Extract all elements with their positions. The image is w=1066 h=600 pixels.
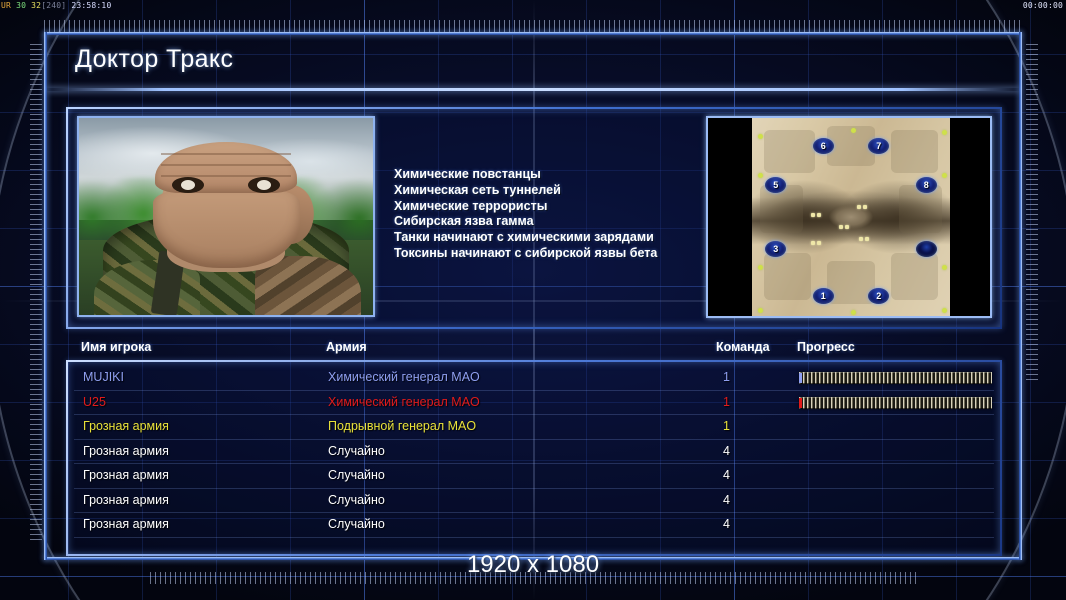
page-title: Доктор Тракс [75,45,233,74]
map-supply-dock [865,237,869,241]
map-start-position-3[interactable]: 3 [765,241,786,257]
player-army: Случайно [328,517,385,531]
map-supply-dock [817,241,821,245]
player-table-header: Имя игрока Армия Команда Прогресс [66,340,1002,360]
player-army: Случайно [328,493,385,507]
player-army: Химический генерал MAO [328,370,480,384]
map-supply-dock [857,205,861,209]
map-supply-dock [817,213,821,217]
table-row[interactable]: U25Химический генерал MAO1 [68,391,1000,416]
map-supply-dock [845,225,849,229]
player-army: Случайно [328,444,385,458]
map-supply-dock [811,213,815,217]
table-row[interactable]: MUJIKIХимический генерал MAO1 [68,366,1000,391]
column-header-team: Команда [716,340,770,354]
column-header-player: Имя игрока [81,340,151,354]
player-name: Грозная армия [83,419,169,433]
player-team: 1 [723,370,730,384]
map-terrain-patch [760,185,804,233]
faction-portrait [77,116,375,317]
table-row[interactable]: Грозная армияСлучайно4 [68,489,1000,514]
resolution-label: 1920 x 1080 [0,551,1066,579]
portrait-eyes [164,177,287,193]
faction-description-line: Химические повстанцы [394,167,657,183]
title-bar: Доктор Тракс [47,35,1019,91]
player-army: Химический генерал MAO [328,395,480,409]
frame-edge-left [44,32,47,560]
table-row[interactable]: Грозная армияСлучайно4 [68,464,1000,489]
map-tech-building [942,130,947,135]
map-tech-building [851,128,856,133]
map-start-position-1[interactable]: 1 [813,288,834,304]
map-preview[interactable]: 1235678 [706,116,992,318]
table-row[interactable]: Грозная армияПодрывной генерал MAO1 [68,415,1000,440]
frame-edge-right [1019,32,1022,560]
player-team: 1 [723,419,730,433]
faction-description-list: Химические повстанцыХимическая сеть тунн… [394,167,657,262]
debug-right-timer: 00:00:00 [1023,0,1063,11]
map-tech-building [942,308,947,313]
player-team: 4 [723,517,730,531]
debug-clock: 23:58:10 [71,1,111,10]
player-table: MUJIKIХимический генерал MAO1U25Химическ… [66,360,1002,556]
faction-description-line: Химические террористы [394,199,657,215]
map-tech-building [758,265,763,270]
map-supply-dock [863,205,867,209]
map-start-position-2[interactable]: 2 [868,288,889,304]
map-start-position-6[interactable]: 6 [813,138,834,154]
column-header-progress: Прогресс [797,340,855,354]
portrait-eye-left [172,177,204,193]
player-name: MUJIKI [83,370,124,384]
map-tech-building [758,134,763,139]
map-tech-building [942,265,947,270]
player-army: Подрывной генерал MAO [328,419,476,433]
title-underline [47,88,1019,91]
debug-status-bar: UR 30 32[240] 23:58:10 00:00:00 [0,0,1066,11]
portrait-eye-right [248,177,280,193]
ruler-top [44,20,1022,32]
map-image: 1235678 [752,118,950,316]
portrait-face-mask [153,189,300,268]
map-supply-dock [839,225,843,229]
player-name: U25 [83,395,106,409]
faction-description-line: Химическая сеть туннелей [394,183,657,199]
map-tech-building [758,308,763,313]
player-team: 4 [723,493,730,507]
player-team: 4 [723,444,730,458]
player-progress-bar [799,372,992,384]
row-separator [74,537,994,538]
map-terrain-patch [891,130,939,174]
player-army: Случайно [328,468,385,482]
player-name: Грозная армия [83,517,169,531]
table-row[interactable]: Грозная армияСлучайно4 [68,440,1000,465]
map-tech-building [758,173,763,178]
player-progress-bar [799,397,992,409]
map-start-position-8[interactable]: 8 [916,177,937,193]
player-name: Грозная армия [83,493,169,507]
player-name: Грозная армия [83,444,169,458]
ruler-right [1026,44,1038,384]
map-terrain-patch [899,185,943,233]
map-start-position-7[interactable]: 7 [868,138,889,154]
table-row[interactable]: Грозная армияСлучайно4 [68,513,1000,538]
player-team: 1 [723,395,730,409]
map-tech-building [851,310,856,315]
map-terrain-patch [891,253,939,301]
progress-bar-cap [799,398,802,408]
map-supply-dock [811,241,815,245]
progress-bar-cap [799,373,802,383]
map-terrain-patch [764,253,812,301]
faction-description-line: Токсины начинают с сибирской язвы бета [394,246,657,262]
faction-info-panel: Химические повстанцыХимическая сеть тунн… [66,107,1002,329]
column-header-army: Армия [326,340,367,354]
faction-description-line: Танки начинают с химическими зарядами [394,230,657,246]
map-terrain-patch [764,130,815,174]
map-start-position-4[interactable] [916,241,937,257]
ruler-left [30,44,42,544]
debug-left-text: UR 30 32[240] 23:58:10 [1,0,111,11]
faction-description-line: Сибирская язва гамма [394,214,657,230]
player-name: Грозная армия [83,468,169,482]
map-tech-building [942,173,947,178]
map-supply-dock [859,237,863,241]
player-team: 4 [723,468,730,482]
